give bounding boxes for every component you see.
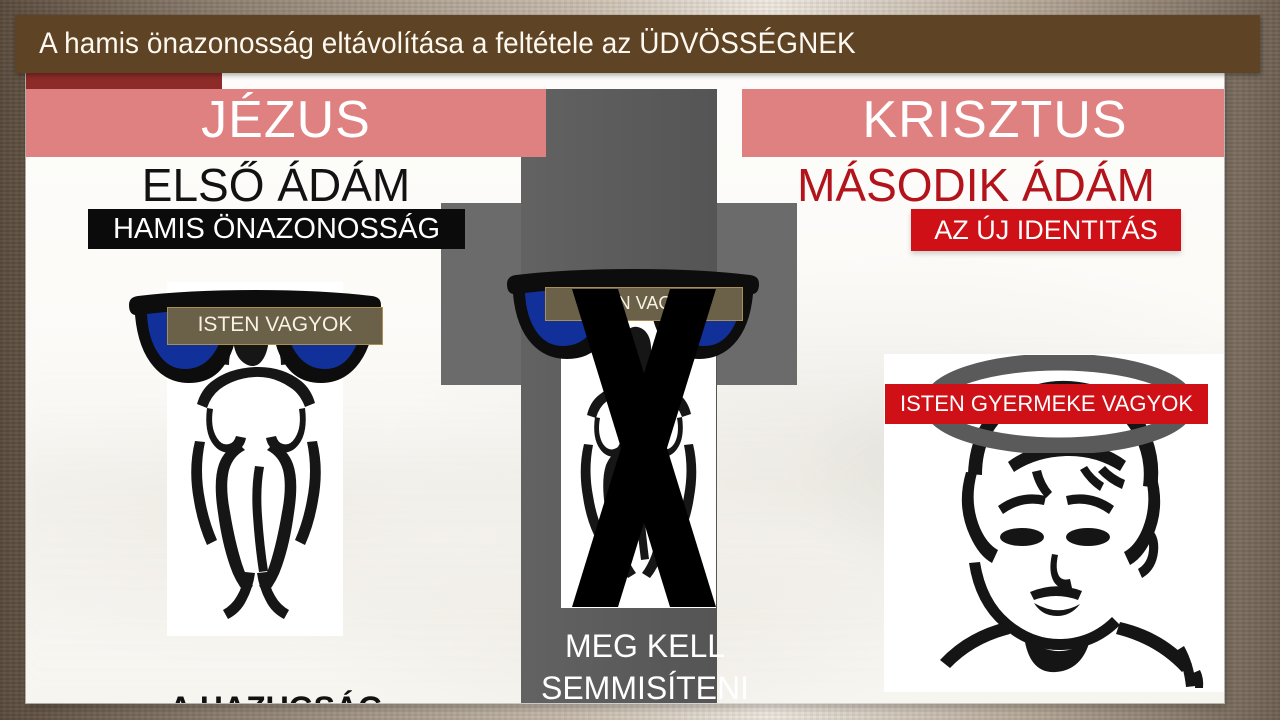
slide-title-bar: A hamis önazonosság eltávolítása a felté… [15,15,1260,73]
badge-isten-gyermeke-vagyok: ISTEN GYERMEKE VAGYOK [885,384,1208,424]
banner-label-jezus: JÉZUS [26,89,546,157]
banner-label-krisztus: KRISZTUS [742,89,1224,157]
badge-az-uj-identitas: AZ ÚJ IDENTITÁS [911,209,1181,251]
badge-isten-vagyok-left: ISTEN VAGYOK [167,307,383,345]
slide-canvas: JÉZUS KRISZTUS ELSŐ ÁDÁM HAMIS ÖNAZONOSS… [26,73,1224,703]
left-column-heading: ELSŐ ÁDÁM [26,158,526,212]
slide-frame: JÉZUS KRISZTUS ELSŐ ÁDÁM HAMIS ÖNAZONOSS… [0,0,1280,720]
center-caption: MEG KELL SEMMISÍTENI [531,625,759,703]
left-caption-underlined: HAZUGSÁG [200,690,383,703]
slide-title-text: A hamis önazonosság eltávolítása a felté… [15,27,856,61]
badge-hamis-onazonossag: HAMIS ÖNAZONOSSÁG [88,209,465,249]
left-caption: A HAZUGSÁG RÓLUNK [61,689,491,703]
center-caption-line2: SEMMISÍTENI [541,670,749,703]
x-cross-out-mark [566,289,722,609]
left-caption-prefix: A [169,690,200,703]
center-caption-line1: MEG KELL [565,628,725,664]
right-column-heading: MÁSODIK ÁDÁM [726,158,1224,212]
